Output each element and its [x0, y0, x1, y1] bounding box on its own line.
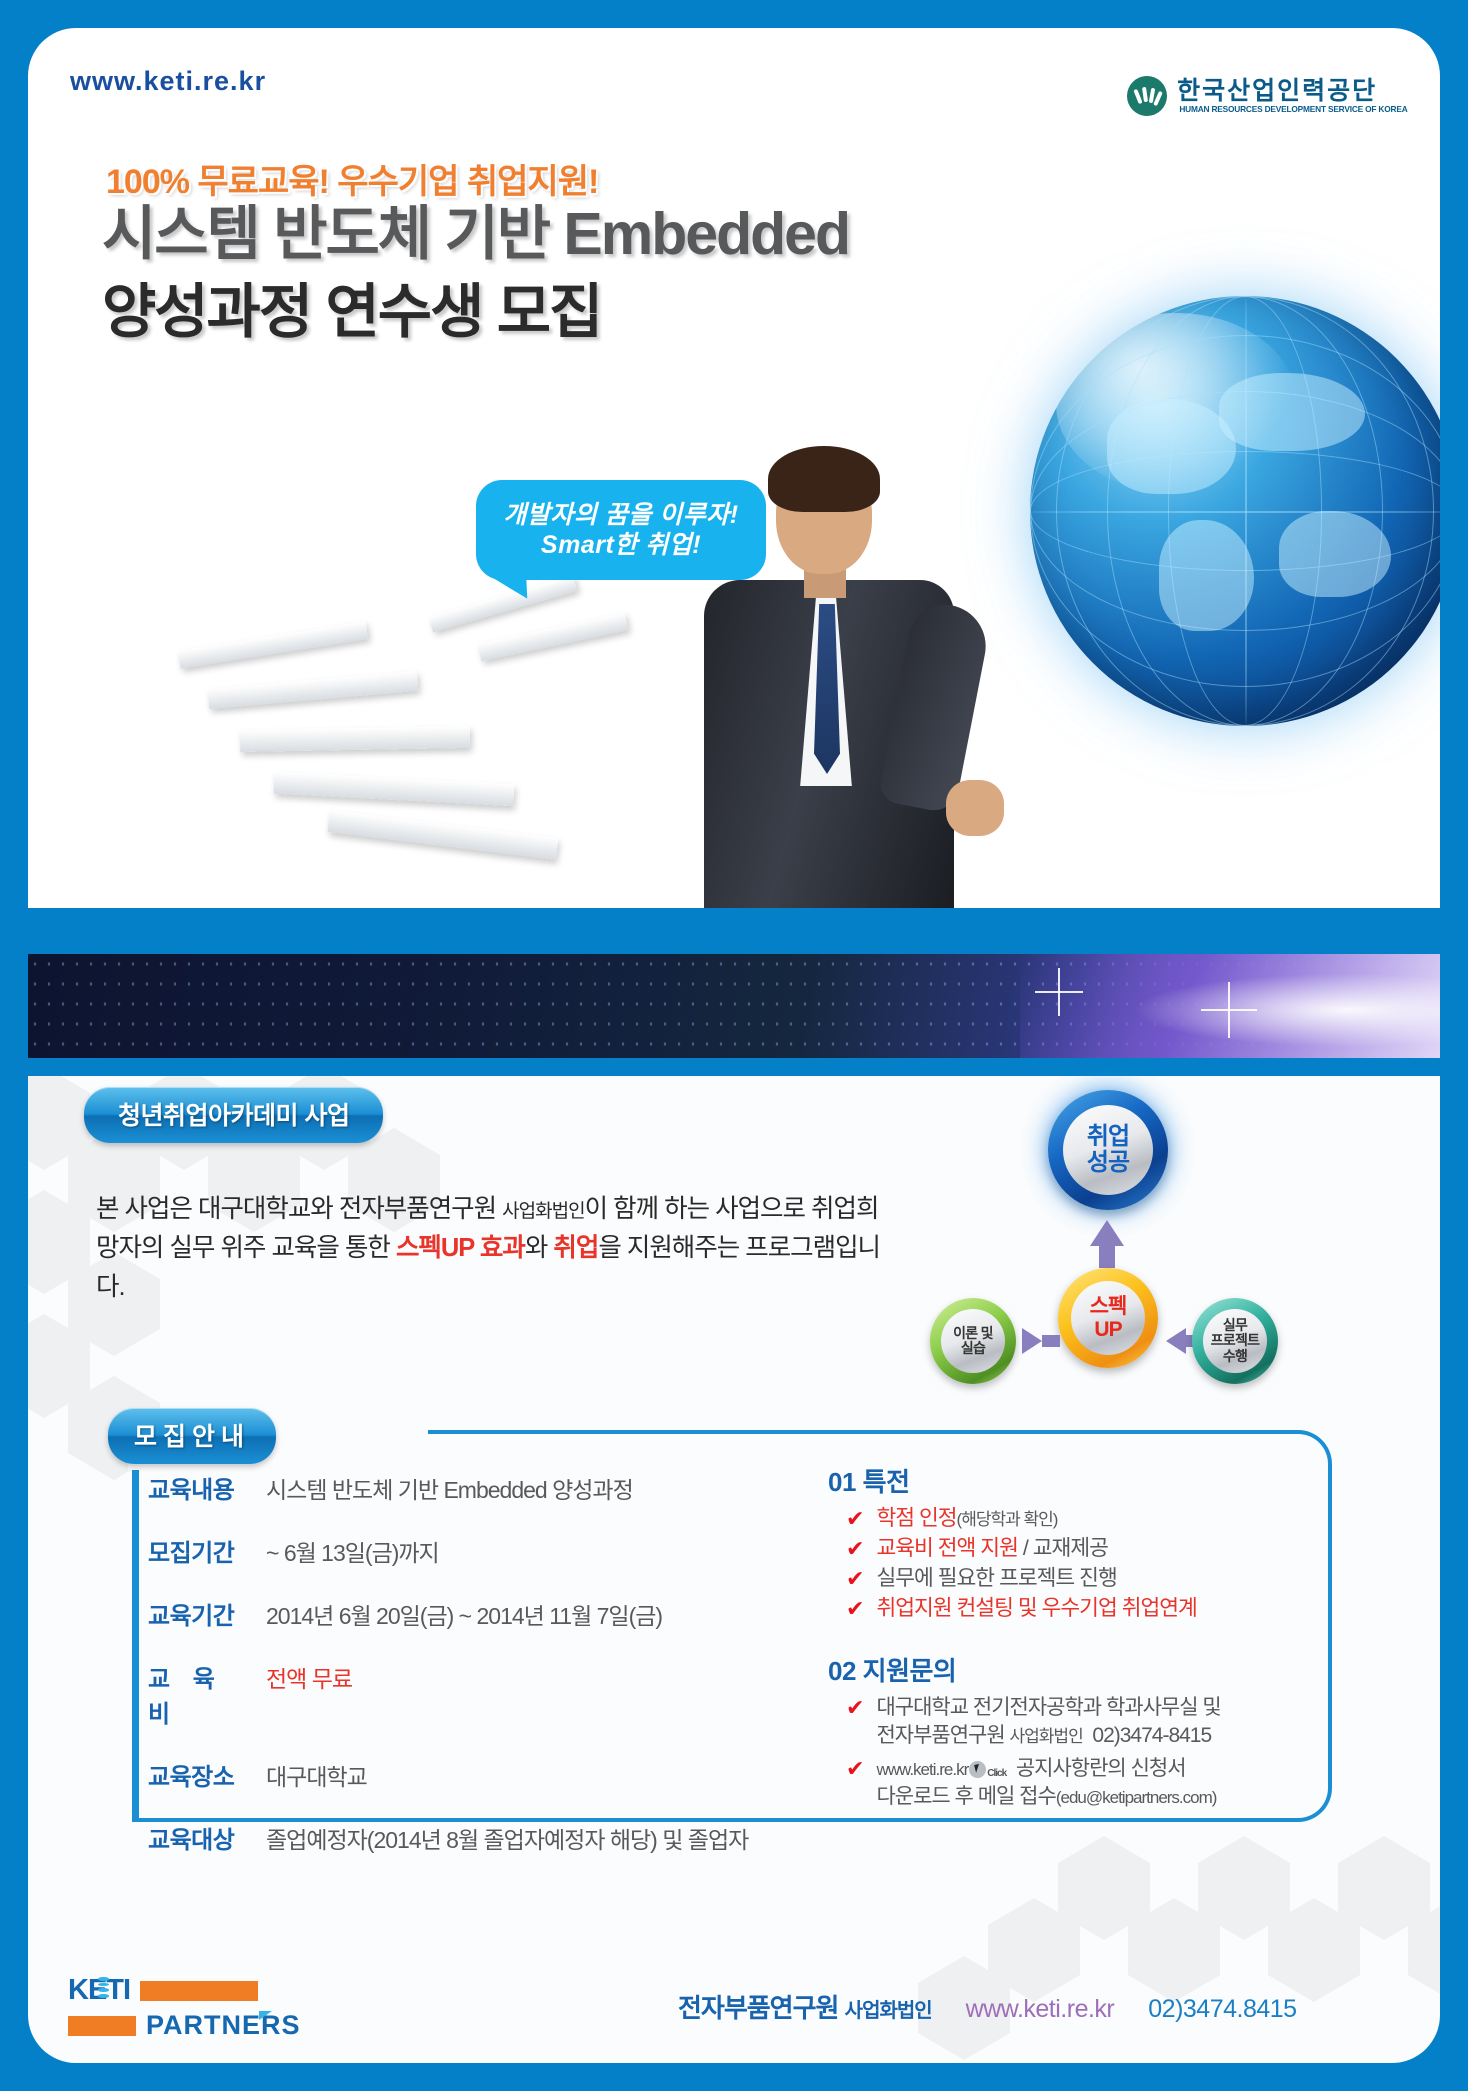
table-row: 모집기간 ~ 6월 13일(금)까지: [148, 1533, 768, 1568]
recruit-section-heading: 모집안내: [108, 1408, 276, 1464]
row-value: 졸업예정자(2014년 8월 졸업자예정자 해당) 및 졸업자: [266, 1821, 748, 1855]
intro-mid2: 와: [525, 1234, 554, 1262]
list-item: ✔ 학점 인정(해당학과 확인): [846, 1505, 1328, 1533]
footer: KETI PARTNERS 전자부품연구원 사업화법인 www.keti.re.…: [28, 1960, 1440, 2063]
benefit-small: (해당학과 확인): [957, 1510, 1058, 1529]
benefit-main: 학점 인정: [876, 1506, 956, 1530]
support-notice-text: 공지사항란의 신청서: [1016, 1757, 1186, 1780]
benefit-main: 실무에 필요한 프로젝트 진행: [876, 1566, 1116, 1590]
row-label: 교육내용: [148, 1470, 266, 1505]
intro-highlight-specup: 스펙UP 효과: [396, 1234, 525, 1262]
orb-employment-success: 취업 성공: [1048, 1090, 1168, 1210]
support-line2-pre: 전자부품연구원: [876, 1724, 1009, 1747]
speech-bubble: 개발자의 꿈을 이루자! Smart한 취업!: [476, 480, 766, 580]
check-icon: ✔: [846, 1595, 864, 1623]
keti-orange-bar-2: [68, 2016, 136, 2036]
recruit-pill-label: 모집안내: [108, 1408, 276, 1464]
benefits-heading: 01 특전: [828, 1462, 1328, 1499]
list-item: ✔ 대구대학교 전기전자공학과 학과사무실 및 전자부품연구원 사업화법인 02…: [846, 1694, 1328, 1751]
hair: [768, 446, 880, 512]
hero-headline-line1: 시스템 반도체 기반 Embedded: [102, 201, 849, 267]
hero-headline: 시스템 반도체 기반 Embedded 양성과정 연수생 모집: [102, 196, 1102, 352]
orb-spec-up: 스펙 UP: [1058, 1268, 1158, 1368]
row-value: 전액 무료: [266, 1660, 352, 1694]
row-value: 대구대학교: [266, 1758, 367, 1792]
list-item: ✔ 실무에 필요한 프로젝트 진행: [846, 1565, 1328, 1593]
row-label: 모집기간: [148, 1533, 266, 1568]
keti-partners-logo: KETI PARTNERS: [68, 1974, 283, 2040]
orb-project-line1: 실무: [1223, 1318, 1247, 1333]
hrd-korea-mark-icon: [1127, 76, 1167, 116]
intro-highlight-employment: 취업: [553, 1234, 598, 1262]
row-value: 시스템 반도체 기반 Embedded 양성과정: [266, 1471, 633, 1505]
recruit-right-column: 01 특전 ✔ 학점 인정(해당학과 확인) ✔ 교육비 전액 지원 / 교재제…: [828, 1462, 1328, 1816]
fist: [946, 780, 1004, 836]
specup-flow-diagram: 취업 성공 스펙 UP 이론 및 실습 실무 프로젝트 수행: [930, 1090, 1360, 1390]
arrow-up-icon: [1090, 1220, 1124, 1246]
row-value: 2014년 6월 20일(금) ~ 2014년 11월 7일(금): [266, 1597, 662, 1631]
academy-section-heading: 청년취업아카데미 사업: [84, 1087, 383, 1143]
orb-spec-line2: UP: [1094, 1318, 1121, 1341]
check-icon: ✔: [846, 1535, 864, 1563]
mouse-cursor-click-icon: [969, 1761, 986, 1778]
decorative-banner-strip: [28, 954, 1440, 1058]
keti-orange-bar-1: [140, 1981, 258, 2001]
support-download-text: 다운로드 후 메일 접수: [876, 1785, 1055, 1808]
hero-panel: www.keti.re.kr 한국산업인력공단 HUMAN RESOURCES …: [28, 28, 1440, 908]
hero-headline-line2: 양성과정 연수생 모집: [102, 274, 1102, 352]
orb-success-line2: 성공: [1087, 1150, 1129, 1176]
list-item: ✔ www.keti.re.krClick 공지사항란의 신청서 다운로드 후 …: [846, 1755, 1328, 1812]
academy-pill-label: 청년취업아카데미 사업: [84, 1087, 383, 1143]
orb-practical-project: 실무 프로젝트 수행: [1192, 1298, 1278, 1384]
site-url-top: www.keti.re.kr: [70, 66, 266, 97]
recruit-detail-rows: 교육내용 시스템 반도체 기반 Embedded 양성과정 모집기간 ~ 6월 …: [148, 1470, 768, 1883]
table-row: 교육대상 졸업예정자(2014년 8월 졸업자예정자 해당) 및 졸업자: [148, 1820, 768, 1855]
footer-phone: 02)3474.8415: [1148, 1995, 1296, 2024]
orb-theory-practice: 이론 및 실습: [930, 1298, 1016, 1384]
globe-graphic: [1030, 296, 1440, 726]
table-row: 교 육 비 전액 무료: [148, 1659, 768, 1729]
support-heading: 02 지원문의: [828, 1651, 1328, 1688]
partners-wordmark: PARTNERS: [146, 2010, 301, 2041]
support-line2-small: 사업화법인: [1010, 1727, 1083, 1746]
speech-bubble-line2: Smart한 취업!: [541, 530, 701, 561]
hrd-korea-name-en: HUMAN RESOURCES DEVELOPMENT SERVICE OF K…: [1179, 104, 1407, 114]
orb-theory-line2: 실습: [961, 1341, 985, 1356]
list-item: ✔ 취업지원 컨설팅 및 우수기업 취업연계: [846, 1595, 1328, 1623]
hrd-korea-name-ko: 한국산업인력공단: [1177, 78, 1410, 104]
footer-url[interactable]: www.keti.re.kr: [966, 1995, 1115, 2024]
footer-organization: 전자부품연구원 사업화법인: [678, 1988, 932, 2025]
row-label: 교육대상: [148, 1820, 266, 1855]
hrd-korea-logo: 한국산업인력공단 HUMAN RESOURCES DEVELOPMENT SER…: [1127, 76, 1410, 116]
intro-pre: 본 사업은 대구대학교와 전자부품연구원: [96, 1195, 502, 1223]
support-website-url[interactable]: www.keti.re.kr: [876, 1760, 968, 1779]
orb-success-line1: 취업: [1087, 1124, 1129, 1150]
orb-spec-line1: 스펙: [1090, 1295, 1127, 1318]
footer-org-small: 사업화법인: [845, 2000, 932, 2022]
benefit-main: 교육비 전액 지원: [876, 1536, 1017, 1560]
click-label: Click: [987, 1768, 1006, 1779]
row-value: ~ 6월 13일(금)까지: [266, 1534, 439, 1568]
table-row: 교육장소 대구대학교: [148, 1757, 768, 1792]
benefit-main: 취업지원 컨설팅 및 우수기업 취업연계: [876, 1596, 1196, 1620]
keti-dots-icon: [98, 1977, 109, 2000]
arrow-left-icon-right: [1166, 1328, 1186, 1354]
support-line1: 대구대학교 전기전자공학과 학과사무실 및: [876, 1696, 1220, 1719]
table-row: 교육기간 2014년 6월 20일(금) ~ 2014년 11월 7일(금): [148, 1596, 768, 1631]
row-label: 교육기간: [148, 1596, 266, 1631]
arrow-right-icon-left: [1022, 1328, 1042, 1354]
benefit-tail: / 교재제공: [1018, 1536, 1108, 1560]
row-label: 교육장소: [148, 1757, 266, 1792]
footer-org-main: 전자부품연구원: [678, 1993, 845, 2023]
list-item: ✔ 교육비 전액 지원 / 교재제공: [846, 1535, 1328, 1563]
academy-intro-text: 본 사업은 대구대학교와 전자부품연구원 사업화법인이 함께 하는 사업으로 취…: [96, 1190, 886, 1306]
banner-light-burst: [1020, 954, 1440, 1058]
check-icon: ✔: [846, 1565, 864, 1593]
keti-flag-icon: [259, 2011, 272, 2020]
orb-project-line3: 수행: [1223, 1349, 1247, 1364]
support-phone: 02)3474-8415: [1092, 1724, 1211, 1747]
check-icon: ✔: [846, 1694, 864, 1722]
check-icon: ✔: [846, 1505, 864, 1533]
intro-small: 사업화법인: [502, 1201, 584, 1222]
orb-theory-line1: 이론 및: [953, 1326, 993, 1341]
orb-project-line2: 프로젝트: [1211, 1333, 1260, 1348]
row-label: 교 육 비: [148, 1659, 266, 1729]
check-icon: ✔: [846, 1755, 864, 1783]
speech-bubble-line1: 개발자의 꿈을 이루자!: [503, 500, 738, 531]
keti-wordmark: KETI: [68, 1974, 130, 2007]
support-email[interactable]: (edu@ketipartners.com): [1056, 1788, 1217, 1807]
table-row: 교육내용 시스템 반도체 기반 Embedded 양성과정: [148, 1470, 768, 1505]
